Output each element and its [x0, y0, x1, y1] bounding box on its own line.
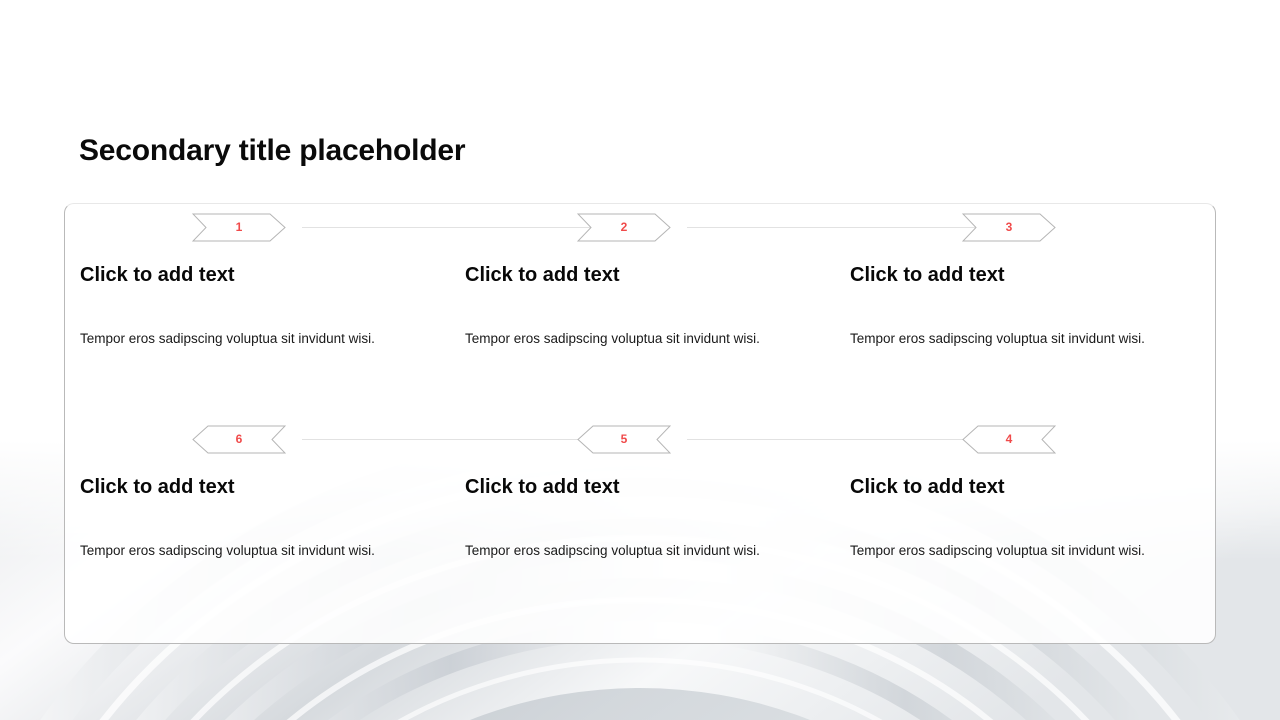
- step-title-1[interactable]: Click to add text: [80, 264, 234, 287]
- slide-canvas: Secondary title placeholder 1 Click to a…: [0, 0, 1280, 720]
- step-title-6[interactable]: Click to add text: [80, 476, 234, 499]
- step-card-1[interactable]: 1 Click to add text Tempor eros sadipsci…: [64, 203, 448, 403]
- step-card-4[interactable]: 4 Click to add text Tempor eros sadipsci…: [834, 415, 1218, 615]
- chevron-right-icon-2[interactable]: 2: [577, 213, 671, 242]
- chevron-left-icon-5[interactable]: 5: [577, 425, 671, 454]
- chevron-left-icon-4[interactable]: 4: [962, 425, 1056, 454]
- step-number-3: 3: [962, 213, 1056, 242]
- step-card-3[interactable]: 3 Click to add text Tempor eros sadipsci…: [834, 203, 1218, 403]
- step-card-6[interactable]: 6 Click to add text Tempor eros sadipsci…: [64, 415, 448, 615]
- step-number-5: 5: [577, 425, 671, 454]
- step-body-1[interactable]: Tempor eros sadipscing voluptua sit invi…: [80, 331, 375, 346]
- step-number-2: 2: [577, 213, 671, 242]
- step-card-5[interactable]: 5 Click to add text Tempor eros sadipsci…: [449, 415, 833, 615]
- step-number-1: 1: [192, 213, 286, 242]
- step-body-3[interactable]: Tempor eros sadipscing voluptua sit invi…: [850, 331, 1145, 346]
- step-title-2[interactable]: Click to add text: [465, 264, 619, 287]
- step-title-4[interactable]: Click to add text: [850, 476, 1004, 499]
- step-number-6: 6: [192, 425, 286, 454]
- step-body-2[interactable]: Tempor eros sadipscing voluptua sit invi…: [465, 331, 760, 346]
- step-row-bottom: 6 Click to add text Tempor eros sadipsci…: [0, 415, 1280, 615]
- step-title-3[interactable]: Click to add text: [850, 264, 1004, 287]
- page-title: Secondary title placeholder: [79, 134, 465, 168]
- chevron-right-icon-3[interactable]: 3: [962, 213, 1056, 242]
- step-body-6[interactable]: Tempor eros sadipscing voluptua sit invi…: [80, 543, 375, 558]
- chevron-right-icon-1[interactable]: 1: [192, 213, 286, 242]
- step-row-top: 1 Click to add text Tempor eros sadipsci…: [0, 203, 1280, 403]
- step-card-2[interactable]: 2 Click to add text Tempor eros sadipsci…: [449, 203, 833, 403]
- step-number-4: 4: [962, 425, 1056, 454]
- step-title-5[interactable]: Click to add text: [465, 476, 619, 499]
- step-body-4[interactable]: Tempor eros sadipscing voluptua sit invi…: [850, 543, 1145, 558]
- step-body-5[interactable]: Tempor eros sadipscing voluptua sit invi…: [465, 543, 760, 558]
- chevron-left-icon-6[interactable]: 6: [192, 425, 286, 454]
